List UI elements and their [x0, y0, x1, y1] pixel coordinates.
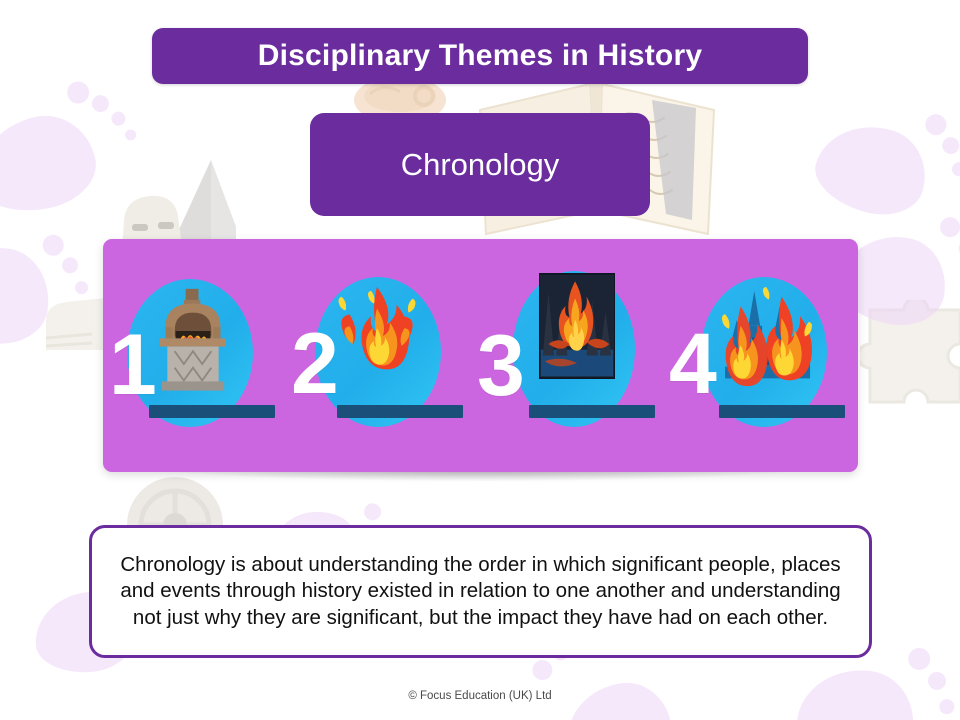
footer: © Focus Education (UK) Ltd [0, 686, 960, 704]
flames-fire-icon [327, 283, 427, 391]
theme-subtitle: Chronology [401, 147, 560, 183]
sequence-item-2: 2 [291, 239, 481, 472]
great-fire-painting-icon [539, 273, 615, 379]
page-title: Disciplinary Themes in History [258, 39, 702, 73]
item-number: 2 [291, 321, 339, 407]
theme-subtitle-box: Chronology [310, 113, 650, 216]
sequence-item-1: 1 [103, 239, 293, 472]
sequence-items: 1 2 [103, 239, 858, 472]
burning-cathedral-icon [711, 281, 819, 393]
copyright-text: © Focus Education (UK) Ltd [408, 690, 551, 702]
answer-line[interactable] [529, 405, 655, 418]
item-number: 4 [669, 321, 717, 407]
slide-title-banner: Disciplinary Themes in History [152, 28, 808, 84]
description-text: Chronology is about understanding the or… [112, 552, 849, 632]
sequence-item-3: 3 [479, 239, 669, 472]
item-number: 3 [477, 323, 525, 409]
answer-line[interactable] [337, 405, 463, 418]
item-number: 1 [109, 322, 157, 408]
activity-panel: 1 2 [103, 239, 858, 472]
answer-line[interactable] [149, 405, 275, 418]
sequence-item-4: 4 [669, 239, 859, 472]
brick-bread-oven-fire-icon [147, 287, 239, 397]
description-box: Chronology is about understanding the or… [89, 525, 872, 658]
answer-line[interactable] [719, 405, 845, 418]
